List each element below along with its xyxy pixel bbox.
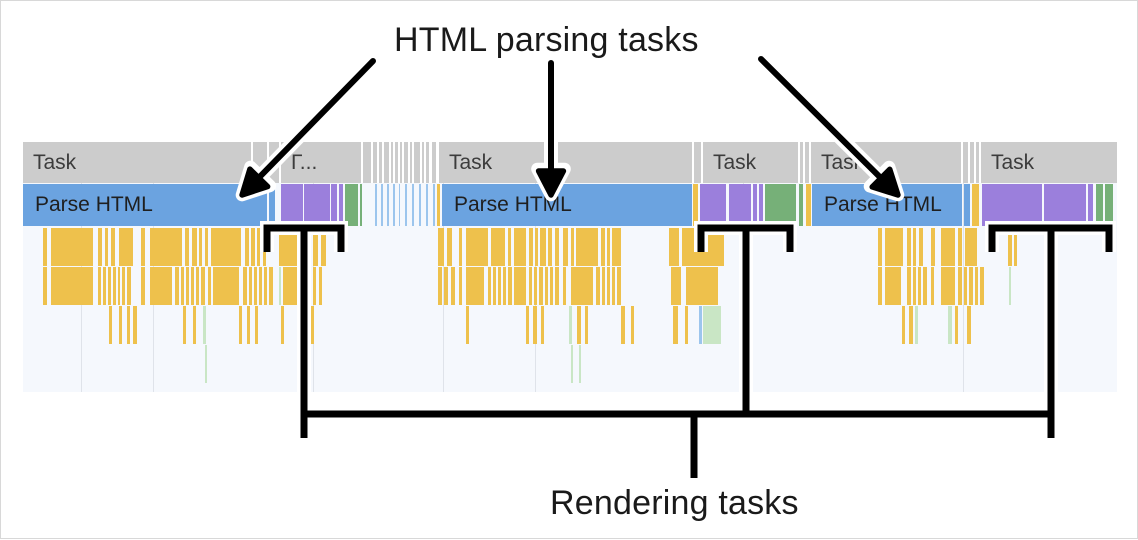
task-segment[interactable]	[373, 142, 377, 183]
flame-bar[interactable]	[508, 228, 511, 266]
flame-bar[interactable]	[466, 228, 488, 266]
flame-bar[interactable]	[111, 228, 115, 266]
html-parsing-tasks-label: HTML parsing tasks	[394, 21, 699, 60]
flame-bar[interactable]	[571, 228, 574, 266]
flame-bar[interactable]	[283, 267, 309, 305]
task-segment[interactable]	[391, 142, 393, 183]
flame-bar[interactable]	[585, 306, 588, 344]
activity-block[interactable]	[437, 184, 440, 226]
flame-bar[interactable]	[941, 267, 955, 305]
task-segment[interactable]	[426, 142, 429, 183]
flame-bar[interactable]	[498, 267, 501, 305]
flame-bar[interactable]	[201, 267, 205, 305]
flame-bar[interactable]	[545, 267, 548, 305]
flame-bar[interactable]	[602, 267, 605, 305]
flame-bar[interactable]	[175, 267, 179, 305]
task-segment[interactable]	[414, 142, 420, 183]
activity-block[interactable]	[1105, 184, 1113, 226]
flame-bar[interactable]	[975, 267, 978, 305]
flame-bar[interactable]	[103, 267, 106, 305]
flame-bar[interactable]	[205, 228, 208, 266]
flame-bar[interactable]	[193, 306, 196, 344]
bracket-bottom	[304, 414, 1051, 438]
task-segment[interactable]	[410, 142, 412, 183]
flame-bar[interactable]	[127, 267, 131, 305]
task-segment[interactable]	[694, 142, 701, 183]
flame-bar[interactable]	[550, 267, 553, 305]
task-segment[interactable]	[395, 142, 398, 183]
flame-bar[interactable]	[1014, 228, 1017, 266]
task-segment[interactable]: Task	[981, 142, 1117, 183]
flame-bar[interactable]	[534, 267, 537, 305]
flame-bar[interactable]	[213, 267, 239, 305]
task-segment-label: Task	[449, 151, 492, 175]
flame-bar[interactable]	[43, 228, 47, 266]
task-segment-label: Task	[821, 151, 864, 175]
flame-bar[interactable]	[108, 267, 111, 305]
flame-bar[interactable]	[199, 228, 202, 266]
screenshot-frame: HTML parsing tasks Rendering tasks TaskГ…	[0, 0, 1138, 539]
flame-bar[interactable]	[319, 267, 322, 305]
flame-bar[interactable]	[571, 345, 573, 383]
flame-bar[interactable]	[150, 228, 182, 266]
flame-bar[interactable]	[239, 306, 242, 344]
flame-bar[interactable]	[596, 267, 600, 305]
main-activity-row[interactable]: Parse HTMLParse HTMLParse HTML	[23, 184, 1117, 226]
flame-bar[interactable]	[617, 267, 621, 305]
activity-block[interactable]	[345, 184, 358, 226]
flame-bar[interactable]	[279, 267, 281, 305]
flame-bar[interactable]	[918, 267, 921, 305]
flame-bar[interactable]	[43, 267, 47, 305]
flame-bar[interactable]	[119, 306, 122, 344]
activity-block[interactable]	[765, 184, 796, 226]
flame-bar[interactable]	[51, 267, 93, 305]
flame-bar[interactable]	[535, 228, 538, 266]
flame-bar[interactable]	[607, 267, 610, 305]
activity-block[interactable]	[304, 184, 330, 226]
flame-bar[interactable]	[965, 228, 977, 266]
activity-block[interactable]	[381, 184, 383, 226]
flame-bar[interactable]	[251, 228, 255, 266]
flame-bar[interactable]	[181, 267, 184, 305]
flame-bar[interactable]	[466, 306, 469, 344]
task-segment[interactable]	[805, 142, 809, 183]
task-segment[interactable]	[384, 142, 389, 183]
flame-bar[interactable]	[913, 267, 916, 305]
flame-bar[interactable]	[612, 267, 615, 305]
flame-bar[interactable]	[967, 306, 971, 344]
flame-bar[interactable]	[878, 267, 882, 305]
flame-row[interactable]	[23, 304, 1117, 346]
flame-bar[interactable]	[254, 267, 257, 305]
task-segment[interactable]	[976, 142, 979, 183]
flame-bar[interactable]	[1008, 228, 1012, 266]
flame-bar[interactable]	[907, 267, 911, 305]
flame-bar[interactable]	[255, 306, 258, 344]
flame-bar[interactable]	[313, 228, 318, 266]
flame-bar[interactable]	[508, 267, 512, 305]
flame-bar[interactable]	[577, 306, 581, 344]
flame-bar[interactable]	[98, 267, 101, 305]
parse-html-label: Parse HTML	[454, 193, 572, 217]
task-segment[interactable]	[404, 142, 408, 183]
flame-bar[interactable]	[150, 267, 172, 305]
parse-html-block[interactable]: Parse HTML	[442, 184, 692, 226]
flame-bar[interactable]	[913, 228, 916, 266]
task-segment[interactable]	[363, 142, 371, 183]
activity-block[interactable]	[1088, 184, 1093, 226]
activity-block[interactable]	[729, 184, 751, 226]
flame-bar[interactable]	[931, 267, 934, 305]
task-segment[interactable]: Task	[811, 142, 961, 183]
flame-bar[interactable]	[259, 267, 262, 305]
flame-bar[interactable]	[541, 306, 544, 344]
flame-bar[interactable]	[612, 228, 621, 266]
flame-bar[interactable]	[141, 267, 145, 305]
flame-bar[interactable]	[98, 228, 102, 266]
flame-bar[interactable]	[631, 306, 634, 344]
flame-bar[interactable]	[686, 267, 718, 305]
flame-bar[interactable]	[955, 306, 958, 344]
task-segment[interactable]	[432, 142, 436, 183]
flame-bar[interactable]	[621, 306, 625, 344]
flame-bar[interactable]	[269, 267, 273, 305]
activity-block[interactable]	[387, 184, 389, 226]
flame-bar[interactable]	[127, 306, 130, 344]
task-segment-label: Task	[713, 151, 756, 175]
flame-bar[interactable]	[514, 228, 526, 266]
flame-bar[interactable]	[311, 306, 314, 344]
flame-bar[interactable]	[119, 228, 133, 266]
task-segment-label: Г...	[291, 151, 317, 175]
flame-bar[interactable]	[444, 267, 448, 305]
flame-bar[interactable]	[685, 306, 688, 344]
flame-bar[interactable]	[907, 228, 911, 266]
activity-block[interactable]	[806, 184, 811, 226]
flame-bar[interactable]	[208, 267, 211, 305]
activity-block[interactable]	[799, 184, 803, 226]
activity-block[interactable]	[339, 184, 343, 226]
flame-bar[interactable]	[451, 267, 455, 305]
flame-row[interactable]	[23, 343, 1117, 385]
activity-block[interactable]	[375, 184, 377, 226]
flame-bar[interactable]	[878, 228, 882, 266]
activity-block[interactable]	[753, 184, 757, 226]
flame-bar[interactable]	[113, 267, 116, 305]
flame-bar[interactable]	[257, 228, 260, 266]
flame-bar[interactable]	[958, 267, 962, 305]
flame-bar[interactable]	[203, 306, 206, 344]
flame-bar[interactable]	[671, 267, 681, 305]
flame-bar[interactable]	[529, 228, 533, 266]
flame-bar[interactable]	[263, 228, 266, 266]
parse-html-block[interactable]: Parse HTML	[812, 184, 962, 226]
flame-bar[interactable]	[243, 267, 247, 305]
bracket-bottom-halo	[304, 414, 1051, 438]
activity-block[interactable]	[982, 184, 1042, 226]
flame-bar[interactable]	[264, 267, 267, 305]
task-segment[interactable]	[379, 142, 382, 183]
flame-bar[interactable]	[915, 306, 918, 344]
flame-bar[interactable]	[569, 306, 572, 344]
flame-bar[interactable]	[105, 228, 108, 266]
flame-bar[interactable]	[673, 306, 678, 344]
flame-bar[interactable]	[118, 267, 120, 305]
flame-bar[interactable]	[1009, 267, 1011, 305]
flame-bar[interactable]	[488, 267, 491, 305]
flame-bar[interactable]	[447, 228, 452, 266]
flame-bar[interactable]	[571, 267, 593, 305]
flame-bar[interactable]	[192, 228, 197, 266]
task-segment[interactable]: Task	[439, 142, 692, 183]
task-segment[interactable]: Г...	[281, 142, 361, 183]
flame-bar[interactable]	[321, 228, 326, 266]
task-segment[interactable]	[800, 142, 803, 183]
task-segment[interactable]	[970, 142, 974, 183]
flame-bar[interactable]	[185, 228, 189, 266]
activity-block[interactable]	[1096, 184, 1103, 226]
flame-bar[interactable]	[438, 228, 444, 266]
flame-bar[interactable]	[540, 228, 546, 266]
flame-bar[interactable]	[191, 267, 194, 305]
flame-bar[interactable]	[514, 267, 526, 305]
flame-bar[interactable]	[313, 267, 316, 305]
activity-block[interactable]	[1044, 184, 1086, 226]
flame-bar[interactable]	[699, 306, 702, 344]
flame-bar[interactable]	[703, 306, 721, 344]
activity-block[interactable]	[419, 184, 421, 226]
flame-bar[interactable]	[186, 267, 189, 305]
task-segment-label: Task	[991, 151, 1034, 175]
flame-bar[interactable]	[438, 267, 442, 305]
activity-block[interactable]	[412, 184, 414, 226]
activity-block[interactable]	[360, 184, 362, 226]
task-segment[interactable]	[269, 142, 279, 183]
flame-bar[interactable]	[491, 228, 505, 266]
flame-bar[interactable]	[459, 267, 462, 305]
activity-block[interactable]	[964, 184, 970, 226]
flame-bar[interactable]	[601, 228, 605, 266]
task-segment[interactable]	[963, 142, 968, 183]
flame-bar[interactable]	[885, 267, 901, 305]
flame-bar[interactable]	[109, 306, 112, 344]
activity-block[interactable]	[269, 184, 275, 226]
flame-bar[interactable]	[555, 228, 559, 266]
flame-bar[interactable]	[548, 228, 552, 266]
flame-bar[interactable]	[682, 228, 724, 266]
flame-bar[interactable]	[526, 306, 529, 344]
flame-bar[interactable]	[919, 228, 923, 266]
flame-bar[interactable]	[279, 228, 309, 266]
flame-bar[interactable]	[281, 306, 284, 344]
flame-bar[interactable]	[211, 228, 241, 266]
flame-bar[interactable]	[931, 228, 935, 266]
task-segment[interactable]: Task	[703, 142, 798, 183]
flame-bar[interactable]	[539, 267, 543, 305]
task-header-row[interactable]: TaskГ...TaskTaskTaskTask	[23, 142, 1117, 183]
flame-bar[interactable]	[555, 267, 559, 305]
parse-html-label: Parse HTML	[824, 193, 942, 217]
flame-bar[interactable]	[247, 306, 250, 344]
flame-bar[interactable]	[941, 228, 955, 266]
activity-block[interactable]	[405, 184, 407, 226]
flame-bar[interactable]	[576, 228, 598, 266]
flame-bar[interactable]	[466, 267, 484, 305]
flame-bar[interactable]	[958, 228, 962, 266]
flame-bar[interactable]	[493, 267, 496, 305]
flame-bar[interactable]	[459, 228, 462, 266]
flame-bar[interactable]	[249, 267, 252, 305]
activity-block[interactable]	[331, 184, 337, 226]
activity-block[interactable]	[700, 184, 726, 226]
flame-bar[interactable]	[141, 228, 145, 266]
task-segment[interactable]	[253, 142, 267, 183]
flame-bar[interactable]	[969, 267, 973, 305]
flame-bar[interactable]	[923, 267, 927, 305]
task-segment[interactable]	[422, 142, 424, 183]
parse-html-label: Parse HTML	[35, 193, 153, 217]
flame-bar[interactable]	[529, 267, 532, 305]
activity-block[interactable]	[972, 184, 979, 226]
flame-bar[interactable]	[205, 345, 207, 383]
flame-row[interactable]	[23, 265, 1117, 307]
flame-bar[interactable]	[885, 228, 903, 266]
flame-bar[interactable]	[964, 267, 967, 305]
task-segment[interactable]	[400, 142, 402, 183]
performance-flame-chart[interactable]: TaskГ...TaskTaskTaskTask Parse HTMLParse…	[23, 142, 1117, 392]
activity-block[interactable]	[693, 184, 698, 226]
flame-bar[interactable]	[902, 306, 905, 344]
flame-bar[interactable]	[503, 267, 506, 305]
flame-bar[interactable]	[579, 345, 581, 383]
flame-bar[interactable]	[669, 228, 679, 266]
flame-bar[interactable]	[909, 306, 913, 344]
task-segment[interactable]: Task	[23, 142, 251, 183]
parse-html-block[interactable]: Parse HTML	[23, 184, 267, 226]
activity-block[interactable]	[399, 184, 400, 226]
activity-block[interactable]	[393, 184, 395, 226]
task-segment-label: Task	[33, 151, 76, 175]
flame-bar[interactable]	[980, 267, 984, 305]
flame-bar[interactable]	[948, 306, 952, 344]
flame-bar[interactable]	[533, 306, 537, 344]
flame-bar[interactable]	[563, 228, 568, 266]
flame-bar[interactable]	[563, 267, 566, 305]
flame-bar[interactable]	[122, 267, 125, 305]
activity-block[interactable]	[433, 184, 435, 226]
flame-bar[interactable]	[245, 228, 249, 266]
flame-bar[interactable]	[607, 228, 610, 266]
flame-bar[interactable]	[51, 228, 93, 266]
rendering-tasks-label: Rendering tasks	[550, 484, 799, 523]
flame-bar[interactable]	[183, 306, 186, 344]
activity-block[interactable]	[759, 184, 763, 226]
flame-bar[interactable]	[133, 306, 137, 344]
flame-bar[interactable]	[196, 267, 199, 305]
activity-block[interactable]	[281, 184, 303, 226]
flame-row[interactable]	[23, 226, 1117, 268]
activity-block[interactable]	[426, 184, 428, 226]
